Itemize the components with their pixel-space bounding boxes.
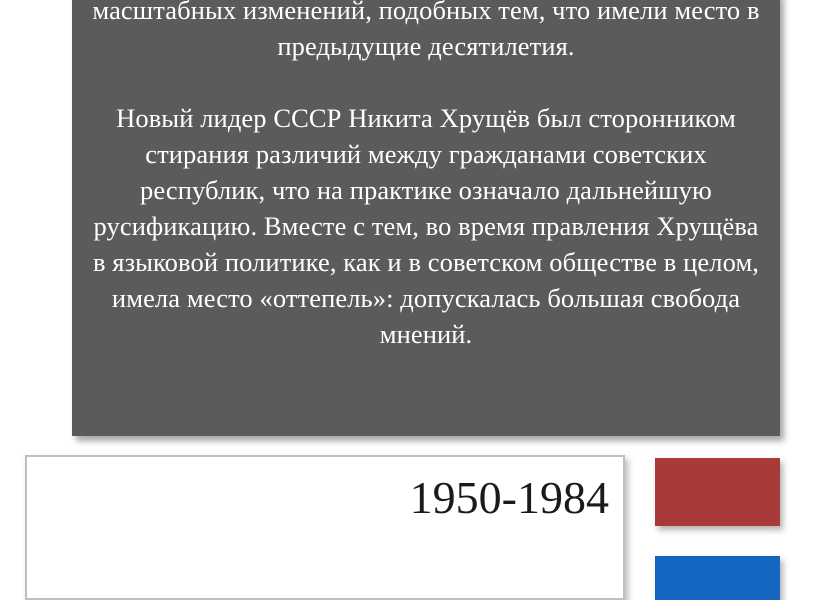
- red-swatch: [655, 458, 780, 526]
- paragraph-continuation: масштабных изменений, подобных тем, что …: [86, 0, 766, 64]
- date-box: 1950-1984: [25, 455, 625, 600]
- blue-swatch: [655, 556, 780, 600]
- paragraph-khrushchev: Новый лидер СССР Никита Хрущёв был сторо…: [86, 100, 766, 352]
- date-range-label: 1950-1984: [410, 475, 609, 521]
- text-panel: масштабных изменений, подобных тем, что …: [72, 0, 780, 436]
- slide-canvas: масштабных изменений, подобных тем, что …: [0, 0, 825, 600]
- paragraph-spacer: [86, 64, 766, 100]
